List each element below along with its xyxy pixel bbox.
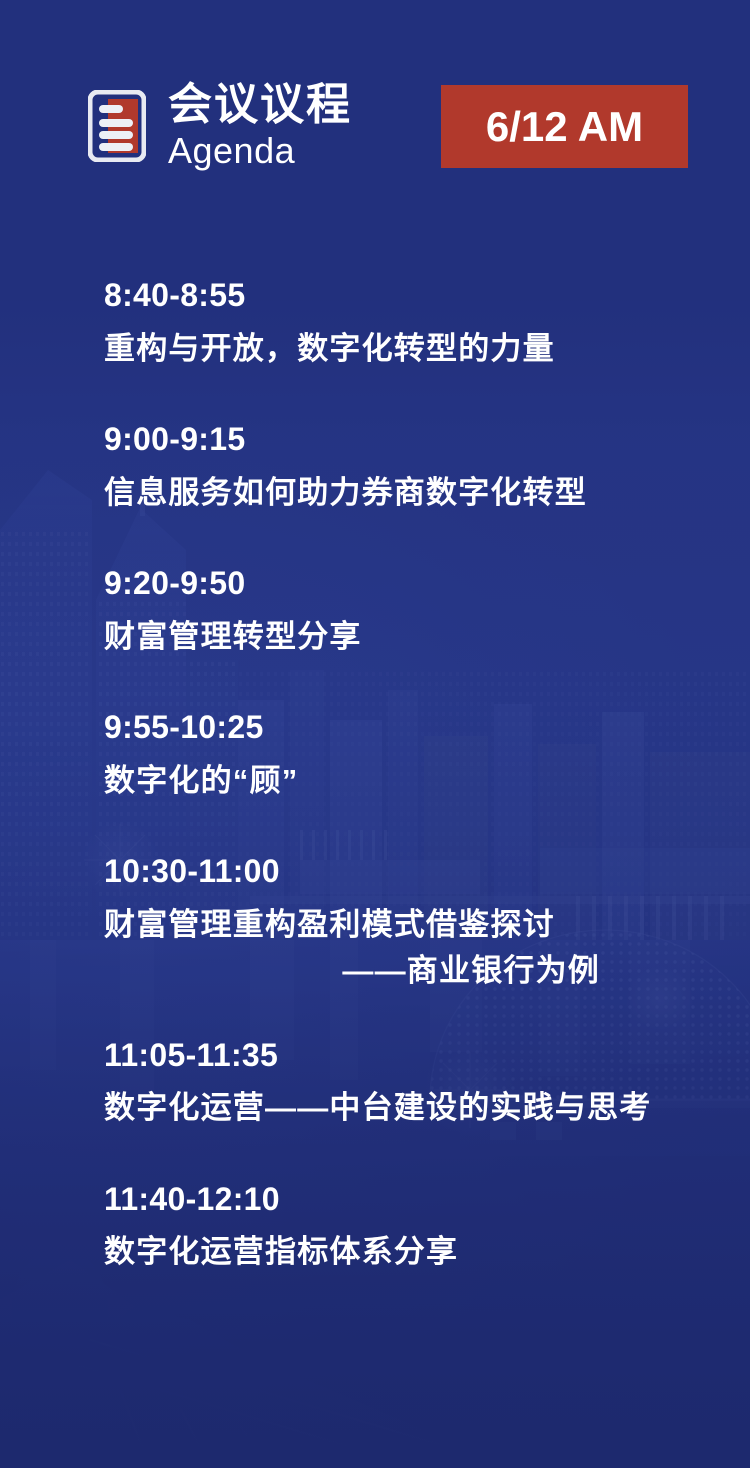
agenda-item-topic: 信息服务如何助力券商数字化转型 [104, 473, 704, 513]
agenda-item-topic: 重构与开放，数字化转型的力量 [104, 329, 704, 369]
agenda-clipboard-icon [88, 90, 146, 162]
page-title-en: Agenda [168, 132, 352, 171]
date-badge: 6/12 AM [441, 85, 688, 168]
agenda-item-topic: 财富管理转型分享 [104, 617, 704, 657]
agenda-item-time: 11:40-12:10 [104, 1181, 704, 1219]
agenda-item: 11:40-12:10 数字化运营指标体系分享 [104, 1181, 704, 1273]
page-title-cn: 会议议程 [168, 82, 352, 129]
agenda-item-time: 9:55-10:25 [104, 709, 704, 747]
agenda-item: 11:05-11:35 数字化运营——中台建设的实践与思考 [104, 1037, 704, 1129]
poster-header: 会议议程 Agenda [88, 82, 352, 171]
agenda-poster: 会议议程 Agenda 6/12 AM 8:40-8:55 重构与开放，数字化转… [0, 0, 750, 1468]
agenda-item-time: 8:40-8:55 [104, 277, 704, 315]
header-titles: 会议议程 Agenda [168, 82, 352, 171]
agenda-item-topic: 数字化运营——中台建设的实践与思考 [104, 1088, 704, 1128]
agenda-item-topic: 数字化运营指标体系分享 [104, 1232, 704, 1272]
agenda-item-time: 11:05-11:35 [104, 1037, 704, 1075]
agenda-item: 10:30-11:00 财富管理重构盈利模式借鉴探讨 ——商业银行为例 [104, 853, 704, 991]
agenda-item: 8:40-8:55 重构与开放，数字化转型的力量 [104, 277, 704, 369]
agenda-item-topic: 财富管理重构盈利模式借鉴探讨 [104, 905, 704, 945]
agenda-item-time: 9:00-9:15 [104, 421, 704, 459]
agenda-item: 9:55-10:25 数字化的“顾” [104, 709, 704, 801]
agenda-item-time: 9:20-9:50 [104, 565, 704, 603]
agenda-item-time: 10:30-11:00 [104, 853, 704, 891]
agenda-item: 9:20-9:50 财富管理转型分享 [104, 565, 704, 657]
agenda-list: 8:40-8:55 重构与开放，数字化转型的力量 9:00-9:15 信息服务如… [104, 277, 704, 1325]
agenda-item-topic-line2: ——商业银行为例 [104, 951, 600, 991]
date-badge-label: 6/12 AM [486, 103, 643, 151]
agenda-item: 9:00-9:15 信息服务如何助力券商数字化转型 [104, 421, 704, 513]
agenda-item-topic: 数字化的“顾” [104, 761, 704, 801]
